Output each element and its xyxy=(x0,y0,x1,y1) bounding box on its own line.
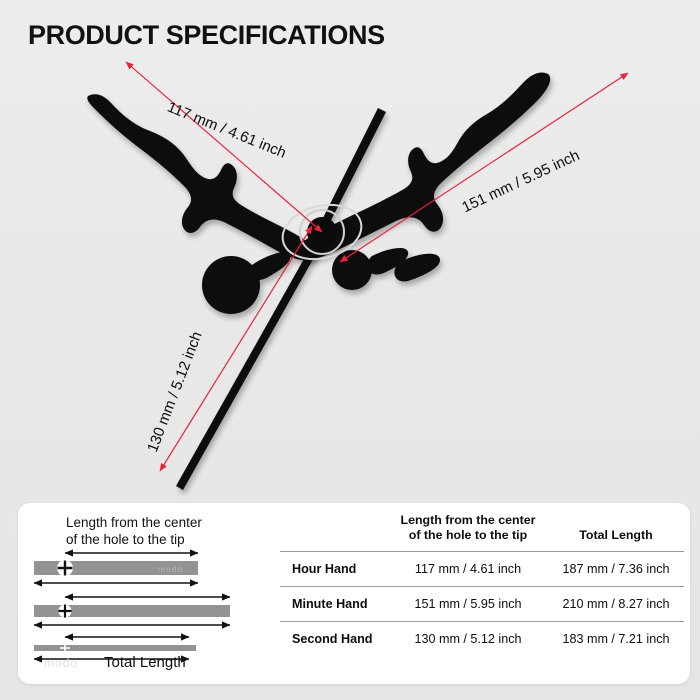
row-name-minute-hand: Minute Hand xyxy=(280,586,388,621)
bar-watermark-hour: modo xyxy=(158,564,183,574)
clock-hands-diagram xyxy=(0,0,700,500)
bar-second xyxy=(34,645,196,651)
column-header-total-length: Total Length xyxy=(548,509,684,551)
cell-total-length-minute-hand: 210 mm / 8.27 inch xyxy=(548,586,684,621)
table-row: Hour Hand 117 mm / 4.61 inch 187 mm / 7.… xyxy=(280,551,684,586)
cell-total-length-hour-hand: 187 mm / 7.36 inch xyxy=(548,551,684,586)
column-header-center-to-tip-line1: Length from the center xyxy=(392,513,544,528)
row-name-second-hand: Second Hand xyxy=(280,621,388,656)
bar-panel-footer: Total Length xyxy=(104,654,186,671)
specification-table: Length from the center of the hole to th… xyxy=(280,509,684,656)
crosshair-second xyxy=(60,642,70,654)
bar-group-hour: modo xyxy=(34,553,198,583)
table-row: Second Hand 130 mm / 5.12 inch 183 mm / … xyxy=(280,621,684,656)
measurement-illustration-panel: Length from the center of the hole to th… xyxy=(18,503,276,684)
dimension-arrow-minute xyxy=(340,73,628,262)
table-header-row: Length from the center of the hole to th… xyxy=(280,509,684,551)
specification-card: Length from the center of the hole to th… xyxy=(18,503,690,684)
cell-center-to-tip-second-hand: 130 mm / 5.12 inch xyxy=(388,621,548,656)
cell-center-to-tip-minute-hand: 151 mm / 5.95 inch xyxy=(388,586,548,621)
column-header-center-to-tip: Length from the center of the hole to th… xyxy=(388,509,548,551)
bar-group-minute xyxy=(34,597,230,625)
cell-total-length-second-hand: 183 mm / 7.21 inch xyxy=(548,621,684,656)
column-header-name xyxy=(280,509,388,551)
column-header-center-to-tip-line2: of the hole to the tip xyxy=(392,528,544,543)
specification-table-wrapper: Length from the center of the hole to th… xyxy=(280,503,690,684)
cell-center-to-tip-hour-hand: 117 mm / 4.61 inch xyxy=(388,551,548,586)
product-spec-page: PRODUCT SPECIFICATIONS xyxy=(0,0,700,700)
row-name-hour-hand: Hour Hand xyxy=(280,551,388,586)
panel-watermark: modo xyxy=(44,656,78,670)
table-row: Minute Hand 151 mm / 5.95 inch 210 mm / … xyxy=(280,586,684,621)
